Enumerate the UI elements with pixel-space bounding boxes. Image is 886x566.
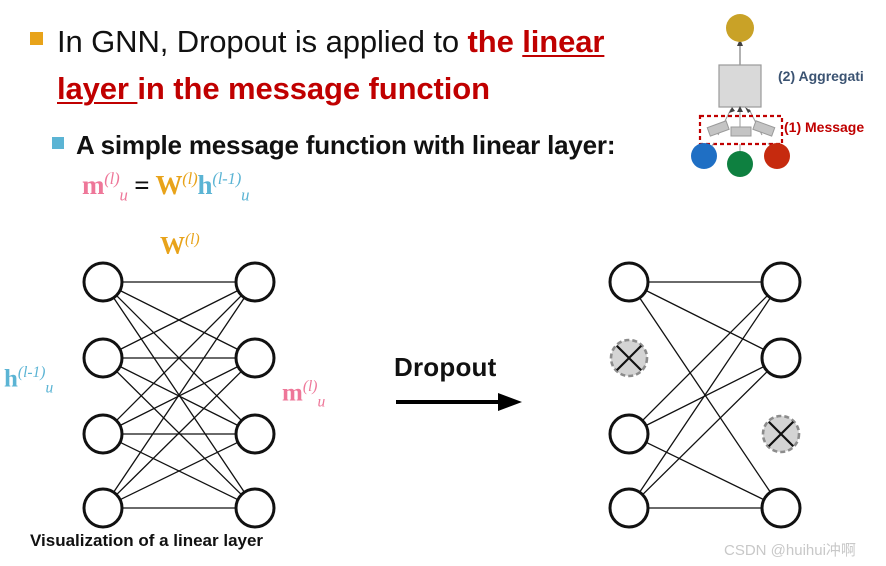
message-item-icon — [731, 127, 751, 136]
diagram-caption: Visualization of a linear layer — [30, 531, 263, 551]
formula-weight: W(l) — [155, 170, 197, 200]
left-network-edges — [114, 282, 245, 508]
right-network-edges — [640, 282, 771, 508]
network-node-icon — [84, 263, 122, 301]
neighbor-node-red-icon — [764, 143, 790, 169]
gold-square-bullet-icon — [30, 32, 43, 45]
input-hidden-label: h(l-1)u — [4, 364, 53, 397]
message-formula: m(l)u = W(l)h(l-1)u — [82, 170, 249, 200]
gnn-message-aggregation-diagram — [690, 12, 800, 182]
network-node-icon — [236, 263, 274, 301]
network-edge — [643, 371, 768, 494]
network-node-icon — [84, 489, 122, 527]
network-node-icon — [762, 339, 800, 377]
neighbor-node-green-icon — [727, 151, 753, 177]
dropout-label: Dropout — [394, 352, 496, 383]
network-node-icon — [762, 489, 800, 527]
network-node-icon — [610, 263, 648, 301]
slide-canvas: In GNN, Dropout is applied to the linear… — [0, 0, 886, 566]
formula-lhs: m(l)u — [82, 170, 128, 200]
network-node-icon — [610, 415, 648, 453]
message-label: (1) Message — [784, 119, 864, 135]
right-network-diagram — [596, 250, 821, 540]
bullet1-segment-plain: In GNN, Dropout is applied to — [57, 24, 468, 59]
network-node-icon — [84, 339, 122, 377]
bullet2-text: A simple message function with linear la… — [76, 130, 615, 160]
network-edge — [646, 442, 764, 499]
bullet-level-2-text: A simple message function with linear la… — [76, 125, 692, 209]
bullet-level-1-text: In GNN, Dropout is applied to the linear… — [57, 18, 680, 112]
blue-square-bullet-icon — [52, 137, 64, 149]
network-node-icon — [236, 415, 274, 453]
formula-equals: = — [134, 170, 149, 200]
bullet1-segment-message-function: in the message function — [137, 71, 490, 106]
left-network-diagram — [70, 250, 295, 540]
bullet-level-1: In GNN, Dropout is applied to the linear… — [30, 18, 680, 112]
formula-hidden: h(l-1)u — [198, 170, 250, 200]
network-node-icon — [236, 339, 274, 377]
network-node-icon — [236, 489, 274, 527]
aggregation-label: (2) Aggregati — [778, 68, 864, 84]
dropout-arrow-icon — [390, 385, 530, 419]
bullet-level-2: A simple message function with linear la… — [52, 125, 692, 209]
bullet1-segment-the: the — [468, 24, 523, 59]
network-edge — [646, 290, 764, 349]
network-node-icon — [610, 489, 648, 527]
csdn-watermark: CSDN @huihui冲啊 — [724, 539, 856, 560]
network-node-icon — [84, 415, 122, 453]
message-item-icon — [753, 121, 775, 136]
network-edge — [642, 295, 767, 420]
aggregation-box-icon — [719, 65, 761, 107]
network-node-icon — [762, 263, 800, 301]
neighbor-node-blue-icon — [691, 143, 717, 169]
target-node-icon — [726, 14, 754, 42]
